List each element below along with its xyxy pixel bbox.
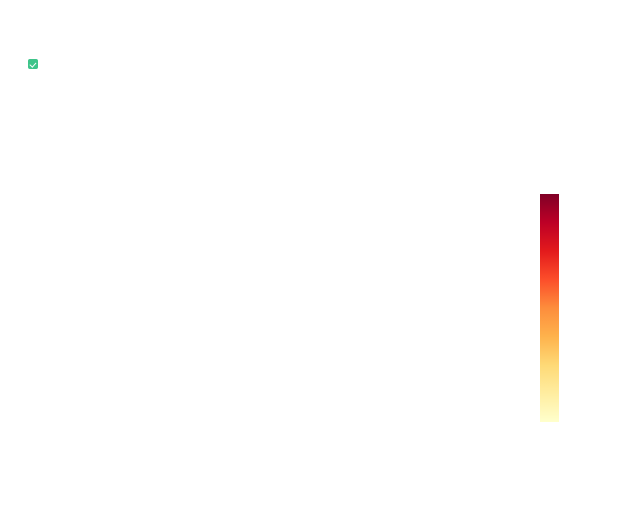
colorbar-gradient — [540, 194, 559, 422]
heatmap-plot-area — [222, 107, 505, 456]
x-axis-tick-labels — [222, 456, 505, 502]
y-axis-tick-labels — [0, 107, 216, 456]
significance-legend-icon — [28, 59, 38, 69]
chart-subtitle — [28, 59, 54, 69]
